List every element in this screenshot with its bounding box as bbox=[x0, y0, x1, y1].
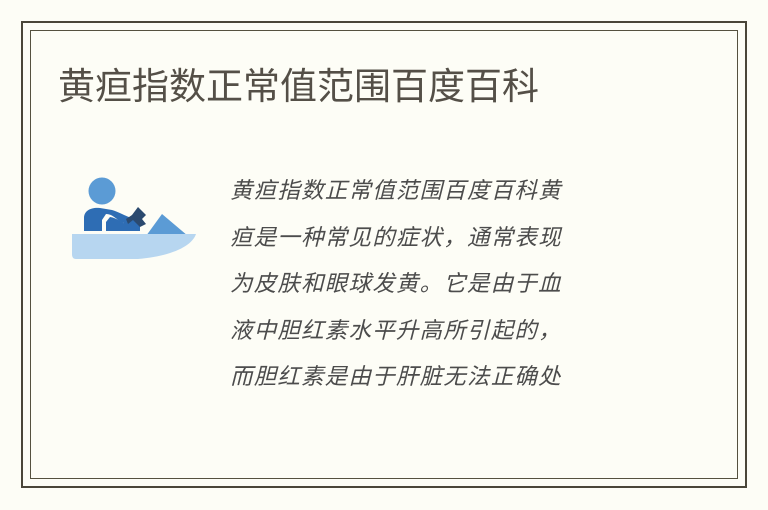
body-line: 黄疸指数正常值范围百度百科黄 bbox=[230, 168, 650, 215]
person-in-boat-illustration bbox=[66, 174, 206, 269]
content-area: 黄疸指数正常值范围百度百科黄 疸是一种常见的症状，通常表现 为皮肤和眼球发黄。它… bbox=[58, 168, 658, 398]
body-line: 而胆红素是由于肝脏无法正确处 bbox=[230, 354, 650, 401]
page-title: 黄疸指数正常值范围百度百科 bbox=[58, 62, 698, 112]
illustration-head bbox=[89, 178, 116, 205]
illustration-hull bbox=[72, 234, 196, 259]
body-line: 疸是一种常见的症状，通常表现 bbox=[230, 215, 650, 262]
body-paragraph: 黄疸指数正常值范围百度百科黄 疸是一种常见的症状，通常表现 为皮肤和眼球发黄。它… bbox=[230, 168, 650, 401]
illustration-sail bbox=[146, 214, 188, 236]
body-line: 液中胆红素水平升高所引起的， bbox=[230, 308, 650, 355]
body-line: 为皮肤和眼球发黄。它是由于血 bbox=[230, 261, 650, 308]
page-root: 黄疸指数正常值范围百度百科 黄疸指数正常值范围百度百科黄 疸是一种常见的 bbox=[0, 0, 768, 510]
